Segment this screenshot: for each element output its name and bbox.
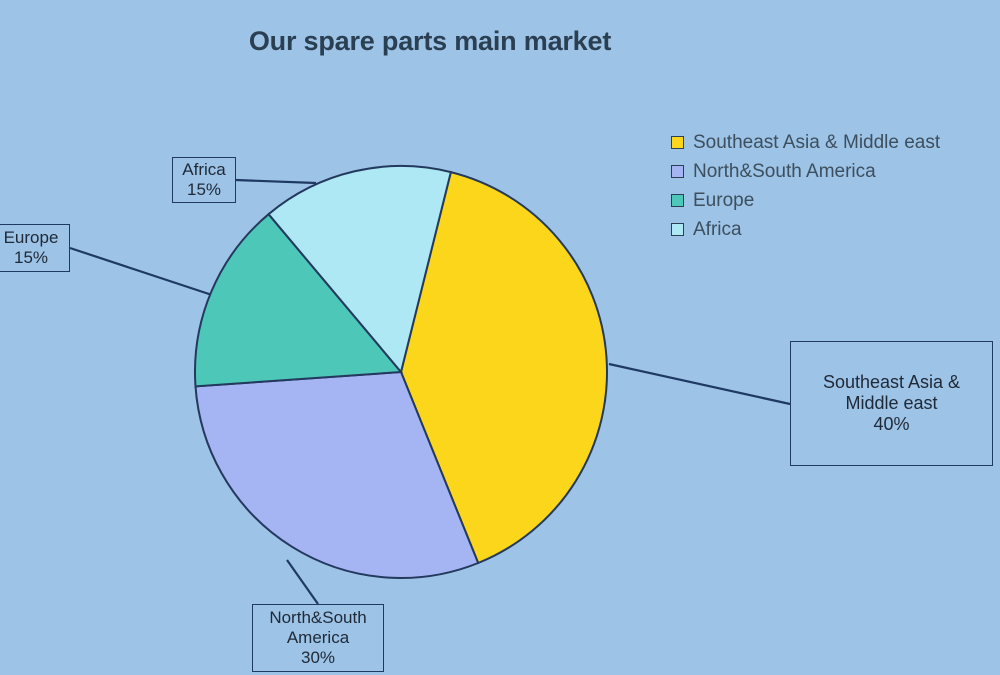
- legend-label-europe: Europe: [693, 190, 754, 212]
- pie-slices: [195, 166, 607, 578]
- legend-swatch-europe: [671, 194, 684, 207]
- legend-item-africa[interactable]: Africa: [671, 215, 991, 244]
- legend-item-europe[interactable]: Europe: [671, 186, 991, 215]
- legend-label-southeast-asia: Southeast Asia & Middle east: [693, 132, 940, 154]
- callout-africa-value: 15%: [187, 180, 221, 200]
- callout-southeast-asia-value: 40%: [873, 414, 909, 435]
- leader-line-southeast-asia: [609, 364, 790, 404]
- callout-north-south-america[interactable]: North&South America 30%: [252, 604, 384, 672]
- pie-chart: [0, 0, 1000, 675]
- callout-africa[interactable]: Africa 15%: [172, 157, 236, 203]
- legend-item-southeast-asia[interactable]: Southeast Asia & Middle east: [671, 128, 991, 157]
- callout-europe-value: 15%: [14, 248, 48, 268]
- legend-swatch-africa: [671, 223, 684, 236]
- leader-line-africa: [236, 180, 316, 183]
- callout-north-south-america-line2: America: [287, 628, 349, 648]
- callout-europe-line1: Europe: [4, 228, 59, 248]
- chart-canvas: Our spare parts main market Southeast As…: [0, 0, 1000, 675]
- legend-label-africa: Africa: [693, 219, 742, 241]
- callout-southeast-asia[interactable]: Southeast Asia & Middle east 40%: [790, 341, 993, 466]
- legend-swatch-north-south-america: [671, 165, 684, 178]
- leader-line-europe: [70, 248, 212, 295]
- callout-north-south-america-line1: North&South: [269, 608, 366, 628]
- legend: Southeast Asia & Middle east North&South…: [671, 128, 991, 244]
- callout-southeast-asia-line2: Middle east: [845, 393, 937, 414]
- leader-line-north-south-america: [287, 560, 318, 604]
- legend-label-north-south-america: North&South America: [693, 161, 876, 183]
- callout-north-south-america-value: 30%: [301, 648, 335, 668]
- legend-swatch-southeast-asia: [671, 136, 684, 149]
- callout-southeast-asia-line1: Southeast Asia &: [823, 372, 960, 393]
- callout-africa-line1: Africa: [182, 160, 225, 180]
- legend-item-north-south-america[interactable]: North&South America: [671, 157, 991, 186]
- callout-europe[interactable]: Europe 15%: [0, 224, 70, 272]
